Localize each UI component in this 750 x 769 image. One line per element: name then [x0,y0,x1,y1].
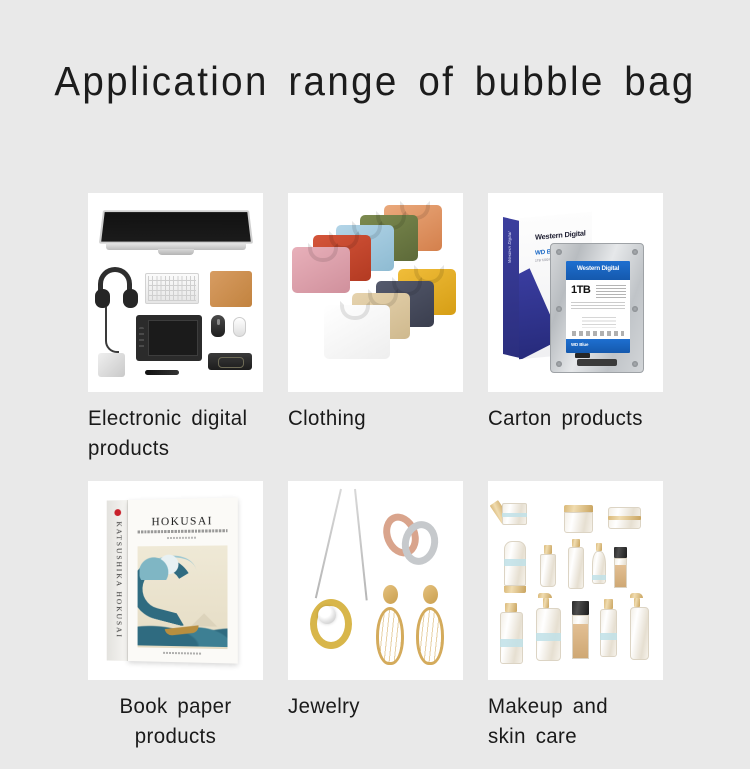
pump-neck [543,598,549,608]
cell-caption: Electronic digital products [88,403,254,463]
product-grid: Electronic digital products Clothing [88,193,664,769]
hdd-screw [556,249,562,255]
great-wave-artwork [138,545,228,649]
hdd-label-footer: WD Blue [566,339,630,353]
grid-cell-jewelry[interactable]: Jewelry [288,481,463,721]
earring-stud [423,585,438,604]
dropper-cap [544,545,552,554]
earring-drop [416,607,444,665]
bottle-body [630,607,649,660]
hdd-label-specs [596,285,626,299]
book-spine: KATSUSHIKA HOKUSAI [107,500,128,661]
wd-box-side-panel: Western Digital [503,217,520,358]
foundation-cap [614,547,627,558]
jewelry-image [288,481,463,680]
wave-crest-foam [140,554,187,580]
necklace-chain-left [315,489,342,599]
label-band [600,633,617,640]
grid-cell-electronic-digital-products[interactable]: Electronic digital products [88,193,263,463]
wd-box-brand: Western Digital [535,228,586,241]
hard-disk-drive: Western Digital 1TB WD Blue [550,243,644,373]
bottle-cap [604,599,613,609]
carton-products-image: Western Digital Western Digital WD BLUE … [488,193,663,392]
hokusai-book: KATSUSHIKA HOKUSAI HOKUSAI [107,497,238,663]
book-cover-title: HOKUSAI [128,515,238,529]
clothing-image [288,193,463,392]
headphone-earcup-left [95,289,110,308]
book-cover-subtitle [138,529,228,533]
label-band [592,575,606,580]
label-band [536,633,561,641]
cell-caption: Makeup and skin care [488,691,654,751]
foundation-liquid [573,624,588,658]
imac-monitor-icon [99,210,253,243]
hdd-screw [556,361,562,367]
jar-body [564,512,593,533]
poster-page: Application range of bubble bag [0,0,750,750]
keyboard-icon [145,273,199,304]
cell-caption: Carton products [488,403,654,433]
bottle-body [568,547,584,589]
magic-mouse-icon [233,317,246,337]
stylus-pen-icon [145,370,179,375]
external-hard-drive-icon [98,353,125,377]
page-title: Application range of bubble bag [23,58,728,105]
hdd-screw [632,249,638,255]
necklace-chain-right [354,489,368,601]
book-image: KATSUSHIKA HOKUSAI HOKUSAI [88,481,263,680]
hdd-sata-connector [575,353,590,358]
hdd-label-brand: Western Digital [566,261,630,280]
grid-cell-makeup-and-skin-care[interactable]: Makeup and skin care [488,481,663,751]
book-publisher-text [163,651,201,654]
hdd-label-text-block [571,302,625,311]
japan-flag-dot-icon [114,509,121,516]
tablet-active-area [148,320,198,356]
bottle-body [500,612,523,664]
gaming-mouse-icon [211,315,225,337]
tube-cap [504,586,526,593]
hdd-certification-marks [572,331,624,336]
electronics-flatlay-image [88,193,263,392]
book-spine-title: KATSUSHIKA HOKUSAI [115,521,124,629]
book-cover-subtitle-second [167,537,197,540]
wd-box-side-text: Western Digital [507,231,512,263]
jar-lid [564,505,593,512]
hdd-screw [632,306,638,312]
label-band [504,559,526,566]
folded-shirt [292,247,350,293]
hdd-label: Western Digital 1TB WD Blue [566,261,630,353]
foundation-liquid [615,565,626,587]
cone-cap [596,543,602,551]
grid-cell-clothing[interactable]: Clothing [288,193,463,433]
keyboard-keys [148,276,196,301]
hdd-label-serial-block [582,317,616,328]
grid-cell-carton-products[interactable]: Western Digital Western Digital WD BLUE … [488,193,663,433]
earring-stud [383,585,398,604]
book-cover: HOKUSAI [128,497,238,663]
grid-row: Electronic digital products Clothing [88,193,664,481]
cell-caption: Clothing [288,403,454,433]
cell-caption: Book paper products [92,691,258,751]
jar-gold-band [608,516,641,520]
foundation-cap [572,601,589,615]
hdd-capacity: 1TB [571,284,590,296]
spray-cap [572,539,580,547]
pump-neck [634,598,640,607]
bottle-cap [505,603,517,612]
grid-cell-book-paper-products[interactable]: KATSUSHIKA HOKUSAI HOKUSAI [88,481,263,751]
grid-row: KATSUSHIKA HOKUSAI HOKUSAI [88,481,664,769]
cosmetics-image [488,481,663,680]
drawing-tablet-icon [136,315,202,361]
imac-stand [158,249,194,255]
folded-shirt [324,305,390,359]
pencil-case-icon [208,353,252,370]
tablet-buttons [139,327,144,349]
bottle-body [540,554,556,587]
pendant-gemstone [318,606,336,624]
hdd-screw [556,306,562,312]
leather-mousepad [210,271,252,307]
headphone-cord [105,307,119,353]
earring-drop [376,607,404,665]
cell-caption: Jewelry [288,691,454,721]
hdd-screw [632,361,638,367]
headphone-earcup-right [123,289,138,308]
hdd-pcb [577,359,617,366]
label-band [500,639,523,647]
label-band [502,513,527,517]
